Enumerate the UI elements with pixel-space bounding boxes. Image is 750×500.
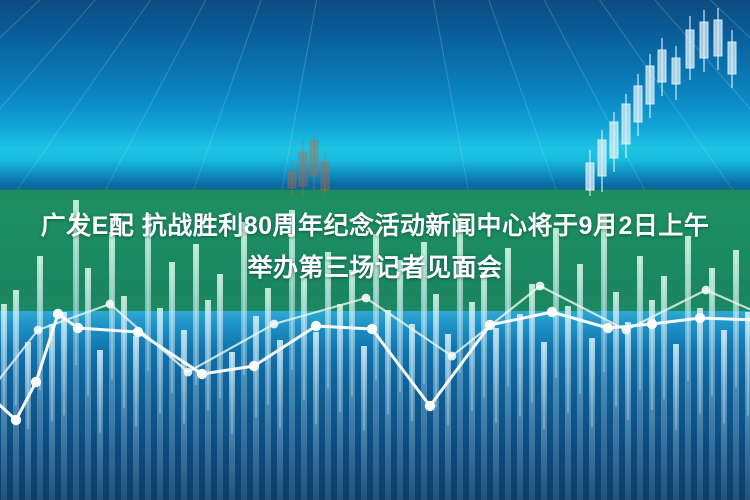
headline-line-1: 广发E配 抗战胜利80周年纪念活动新闻中心将于9月2日上午 (14, 205, 736, 247)
headline-line-2: 举办第三场记者见面会 (14, 247, 736, 289)
headline-text: 广发E配 抗战胜利80周年纪念活动新闻中心将于9月2日上午 举办第三场记者见面会 (0, 205, 750, 289)
sky-gradient-background (0, 0, 750, 196)
lower-blue-panel (0, 311, 750, 500)
news-banner-image: 广发E配 抗战胜利80周年纪念活动新闻中心将于9月2日上午 举办第三场记者见面会 (0, 0, 750, 500)
